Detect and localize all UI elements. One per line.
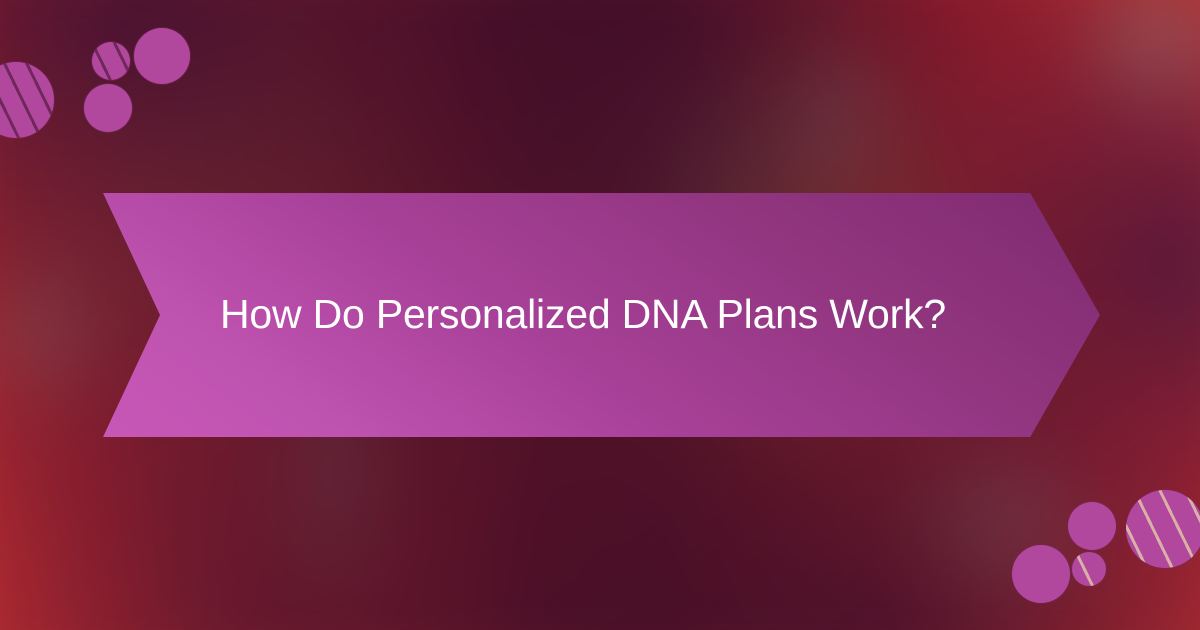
circle-striped-small: [92, 42, 130, 80]
circle-striped-small: [1072, 552, 1106, 586]
circle-striped-large: [1126, 490, 1200, 568]
circle-plain-medium: [84, 84, 132, 132]
banner-canvas: How Do Personalized DNA Plans Work?: [0, 0, 1200, 630]
circle-plain-large: [134, 28, 190, 84]
circle-plain-medium: [1068, 502, 1116, 550]
page-title: How Do Personalized DNA Plans Work?: [220, 193, 1000, 437]
circle-plain-large: [1012, 545, 1070, 603]
